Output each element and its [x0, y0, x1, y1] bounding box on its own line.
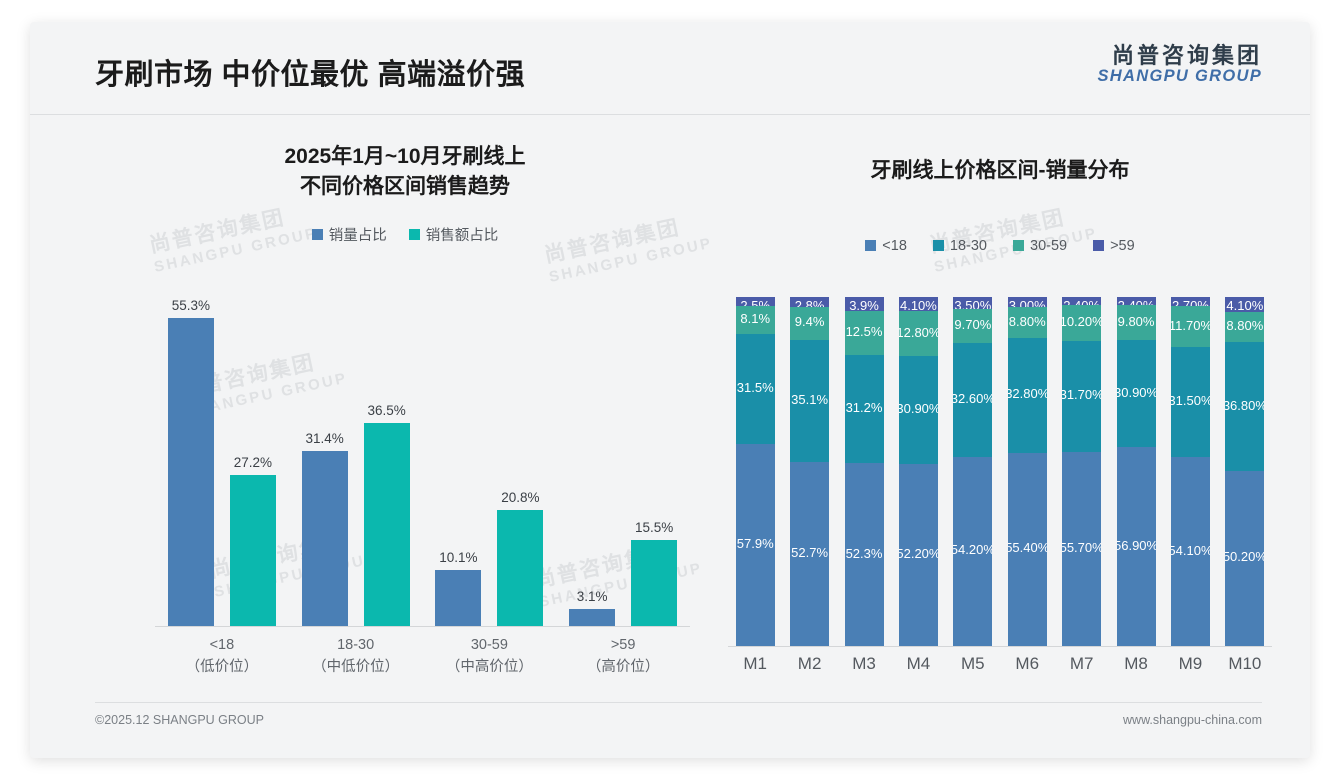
stack-segment-label: 30.90%	[1117, 385, 1156, 400]
bar-group->59: 3.1%15.5%	[556, 292, 690, 626]
x-axis-label-M7: M7	[1054, 654, 1108, 674]
legend-item-销量占比[interactable]: 销量占比	[312, 224, 387, 245]
stack-segment-label: 9.80%	[1118, 314, 1155, 329]
stack-segment-30-59-M10[interactable]: 8.80%	[1225, 312, 1264, 343]
stack-slot-M4: 4.10%12.80%30.90%52.20%	[891, 297, 945, 646]
stacked-bar-M1[interactable]: 2.5%8.1%31.5%57.9%	[736, 297, 775, 646]
stack-segment-label: 12.80%	[899, 325, 938, 340]
left-chart-panel: 2025年1月~10月牙刷线上 不同价格区间销售趋势 销量占比销售额占比 55.…	[100, 142, 710, 702]
stack-segment-<18-M5[interactable]: 54.20%	[953, 457, 992, 646]
stack-segment->59-M1[interactable]: 2.5%	[736, 297, 775, 306]
bar-value-label: 3.1%	[577, 589, 608, 604]
bar-value-label: 31.4%	[305, 431, 343, 446]
right-chart-legend: <1818-3030-59>59	[720, 238, 1280, 254]
left-chart-x-axis-labels: <18（低价位）18-30（中低价位）30-59（中高价位）>59（高价位）	[155, 634, 690, 679]
legend-label: 18-30	[950, 238, 987, 254]
stack-segment-label: 8.80%	[1009, 314, 1046, 329]
stack-segment-label: 11.70%	[1171, 318, 1210, 333]
slide-footer: ©2025.12 SHANGPU GROUP www.shangpu-china…	[95, 702, 1262, 732]
stack-segment-label: 31.50%	[1171, 393, 1210, 408]
legend-label: 30-59	[1030, 238, 1067, 254]
slide-header: 牙刷市场 中价位最优 高端溢价强 尚普咨询集团 SHANGPU GROUP	[30, 22, 1310, 115]
stacked-bar-M4[interactable]: 4.10%12.80%30.90%52.20%	[899, 297, 938, 646]
legend-swatch-icon	[312, 229, 323, 240]
left-chart-title-line1: 2025年1月~10月牙刷线上	[100, 142, 710, 172]
stacked-bar-M2[interactable]: 2.8%9.4%35.1%52.7%	[790, 297, 829, 646]
bar-rect	[302, 451, 348, 626]
stack-segment-label: 55.40%	[1008, 540, 1047, 555]
stack-slot-M5: 3.50%9.70%32.60%54.20%	[946, 297, 1000, 646]
bar-rect	[435, 570, 481, 626]
stack-segment-label: 52.20%	[899, 546, 938, 561]
stack-segment->59-M7[interactable]: 2.40%	[1062, 297, 1101, 305]
stack-segment-<18-M9[interactable]: 54.10%	[1171, 457, 1210, 646]
legend-label: <18	[882, 238, 907, 254]
bar-value-label: 20.8%	[501, 490, 539, 505]
bar-销售额占比-30-59[interactable]: 20.8%	[497, 292, 543, 626]
left-chart-title: 2025年1月~10月牙刷线上 不同价格区间销售趋势	[100, 142, 710, 202]
right-chart-plot-area: 2.5%8.1%31.5%57.9%2.8%9.4%35.1%52.7%3.9%…	[728, 297, 1272, 647]
right-chart-panel: 牙刷线上价格区间-销量分布 <1818-3030-59>59 2.5%8.1%3…	[720, 142, 1280, 702]
x-axis-label-main: 30-59	[471, 637, 508, 653]
stack-segment-18-30-M6[interactable]: 32.80%	[1008, 338, 1047, 452]
stack-segment-label: 54.10%	[1171, 543, 1210, 558]
footer-copyright: ©2025.12 SHANGPU GROUP	[95, 713, 264, 727]
bar-销售额占比->59[interactable]: 15.5%	[631, 292, 677, 626]
legend-swatch-icon	[933, 240, 944, 251]
left-chart-bar-groups: 55.3%27.2%31.4%36.5%10.1%20.8%3.1%15.5%	[155, 292, 690, 626]
stack-segment-<18-M6[interactable]: 55.40%	[1008, 453, 1047, 646]
stack-segment-<18-M2[interactable]: 52.7%	[790, 462, 829, 646]
stack-segment-label: 32.60%	[953, 391, 992, 406]
legend-swatch-icon	[1013, 240, 1024, 251]
x-axis-label-30-59: 30-59（中高价位）	[423, 634, 557, 679]
stack-segment-30-59-M2[interactable]: 9.4%	[790, 307, 829, 340]
stack-slot-M2: 2.8%9.4%35.1%52.7%	[782, 297, 836, 646]
stack-slot-M9: 2.70%11.70%31.50%54.10%	[1163, 297, 1217, 646]
page-title: 牙刷市场 中价位最优 高端溢价强	[95, 51, 525, 93]
legend-label: 销售额占比	[426, 224, 499, 245]
bar-销量占比-18-30[interactable]: 31.4%	[302, 292, 348, 626]
stack-segment-18-30-M3[interactable]: 31.2%	[845, 355, 884, 464]
stack-segment-label: 56.90%	[1117, 538, 1156, 553]
bar-value-label: 15.5%	[635, 520, 673, 535]
bar-rect	[631, 540, 677, 626]
stack-segment->59-M4[interactable]: 4.10%	[899, 297, 938, 311]
x-axis-label-sub: （高价位）	[556, 656, 690, 678]
stack-segment-label: 2.5%	[740, 298, 770, 306]
stack-segment-label: 4.10%	[900, 298, 937, 311]
stack-slot-M3: 3.9%12.5%31.2%52.3%	[837, 297, 891, 646]
right-chart-axis-line	[728, 646, 1272, 647]
bar-rect	[569, 609, 615, 626]
stack-segment-30-59-M5[interactable]: 9.70%	[953, 309, 992, 343]
x-axis-label-M10: M10	[1218, 654, 1272, 674]
stack-segment-30-59-M8[interactable]: 9.80%	[1117, 305, 1156, 339]
stack-segment-label: 30.90%	[899, 401, 938, 416]
stack-segment-18-30-M1[interactable]: 31.5%	[736, 334, 775, 444]
stack-segment-<18-M4[interactable]: 52.20%	[899, 464, 938, 646]
stack-segment-label: 9.70%	[954, 317, 991, 332]
legend-item-<18[interactable]: <18	[865, 238, 907, 254]
stack-segment-label: 8.80%	[1226, 318, 1263, 333]
stacked-bar-M3[interactable]: 3.9%12.5%31.2%52.3%	[845, 297, 884, 646]
stacked-bar-M6[interactable]: 3.00%8.80%32.80%55.40%	[1008, 297, 1047, 646]
x-axis-label-M1: M1	[728, 654, 782, 674]
stack-segment-30-59-M3[interactable]: 12.5%	[845, 311, 884, 355]
slide-canvas: 尚普咨询集团 SHANGPU GROUP 尚普咨询集团 SHANGPU GROU…	[30, 22, 1310, 758]
left-chart-plot-area: 55.3%27.2%31.4%36.5%10.1%20.8%3.1%15.5%	[155, 292, 690, 627]
stack-segment-18-30-M2[interactable]: 35.1%	[790, 340, 829, 462]
stack-segment-label: 12.5%	[846, 324, 883, 339]
stack-segment->59-M9[interactable]: 2.70%	[1171, 297, 1210, 306]
stack-segment->59-M2[interactable]: 2.8%	[790, 297, 829, 307]
stack-segment-label: 2.40%	[1063, 298, 1100, 305]
left-chart-axis-line	[155, 626, 690, 627]
x-axis-label-M3: M3	[837, 654, 891, 674]
stack-segment-30-59-M7[interactable]: 10.20%	[1062, 305, 1101, 341]
right-chart-x-axis-labels: M1M2M3M4M5M6M7M8M9M10	[728, 654, 1272, 674]
stack-segment->59-M3[interactable]: 3.9%	[845, 297, 884, 311]
x-axis-label-M9: M9	[1163, 654, 1217, 674]
stack-segment-label: 35.1%	[791, 392, 828, 407]
x-axis-label-M2: M2	[782, 654, 836, 674]
x-axis-label-<18: <18（低价位）	[155, 634, 289, 679]
stack-segment-label: 9.4%	[795, 314, 825, 329]
bar-value-label: 10.1%	[439, 550, 477, 565]
bar-group-<18: 55.3%27.2%	[155, 292, 289, 626]
bar-销量占比-30-59[interactable]: 10.1%	[435, 292, 481, 626]
stack-segment->59-M8[interactable]: 2.40%	[1117, 297, 1156, 305]
stack-segment-30-59-M1[interactable]: 8.1%	[736, 306, 775, 334]
stack-segment-label: 31.70%	[1062, 387, 1101, 402]
x-axis-label->59: >59（高价位）	[556, 634, 690, 679]
left-chart-legend: 销量占比销售额占比	[100, 224, 710, 245]
stack-segment-label: 50.20%	[1225, 549, 1264, 564]
stack-segment-label: 36.80%	[1225, 398, 1264, 413]
stack-segment-label: 2.70%	[1172, 298, 1209, 306]
stack-segment-label: 52.7%	[791, 545, 828, 560]
x-axis-label-M4: M4	[891, 654, 945, 674]
x-axis-label-main: 18-30	[337, 637, 374, 653]
logo-english-text: SHANGPU GROUP	[1098, 68, 1263, 85]
stack-segment-label: 32.80%	[1008, 386, 1047, 401]
stack-segment->59-M10[interactable]: 4.10%	[1225, 297, 1264, 311]
x-axis-label-sub: （中低价位）	[289, 656, 423, 678]
stack-segment-30-59-M4[interactable]: 12.80%	[899, 311, 938, 356]
bar-rect	[230, 475, 276, 626]
legend-item-销售额占比[interactable]: 销售额占比	[409, 224, 499, 245]
stack-segment-label: 52.3%	[846, 546, 883, 561]
bar-group-30-59: 10.1%20.8%	[423, 292, 557, 626]
x-axis-label-M8: M8	[1109, 654, 1163, 674]
legend-item-18-30[interactable]: 18-30	[933, 238, 987, 254]
stack-slot-M10: 4.10%8.80%36.80%50.20%	[1218, 297, 1272, 646]
legend-swatch-icon	[409, 229, 420, 240]
bar-rect	[364, 423, 410, 626]
stack-segment-label: 55.70%	[1062, 540, 1101, 555]
x-axis-label-sub: （中高价位）	[423, 656, 557, 678]
footer-website: www.shangpu-china.com	[1123, 713, 1262, 727]
bar-value-label: 36.5%	[367, 403, 405, 418]
x-axis-label-main: <18	[210, 637, 235, 653]
stack-slot-M7: 2.40%10.20%31.70%55.70%	[1054, 297, 1108, 646]
stack-segment-<18-M1[interactable]: 57.9%	[736, 444, 775, 646]
bar-销售额占比-<18[interactable]: 27.2%	[230, 292, 276, 626]
stack-segment-label: 10.20%	[1062, 314, 1101, 329]
stacked-bar-M9[interactable]: 2.70%11.70%31.50%54.10%	[1171, 297, 1210, 646]
stack-segment-18-30-M4[interactable]: 30.90%	[899, 356, 938, 464]
stack-segment-30-59-M9[interactable]: 11.70%	[1171, 306, 1210, 347]
right-chart-title: 牙刷线上价格区间-销量分布	[720, 142, 1280, 186]
x-axis-label-sub: （低价位）	[155, 656, 289, 678]
stack-segment-label: 4.10%	[1226, 298, 1263, 311]
stacked-bar-M10[interactable]: 4.10%8.80%36.80%50.20%	[1225, 297, 1264, 646]
stack-slot-M6: 3.00%8.80%32.80%55.40%	[1000, 297, 1054, 646]
stack-segment-18-30-M8[interactable]: 30.90%	[1117, 340, 1156, 448]
bar-value-label: 55.3%	[172, 298, 210, 313]
stack-slot-M1: 2.5%8.1%31.5%57.9%	[728, 297, 782, 646]
stack-segment-18-30-M7[interactable]: 31.70%	[1062, 341, 1101, 452]
bar-销售额占比-18-30[interactable]: 36.5%	[364, 292, 410, 626]
stack-segment-label: 54.20%	[953, 542, 992, 557]
stack-segment-label: 3.9%	[849, 298, 879, 311]
stack-segment-18-30-M9[interactable]: 31.50%	[1171, 347, 1210, 457]
bar-group-18-30: 31.4%36.5%	[289, 292, 423, 626]
bar-rect	[497, 510, 543, 626]
stack-segment-<18-M10[interactable]: 50.20%	[1225, 471, 1264, 646]
right-chart-stacked-bars: 2.5%8.1%31.5%57.9%2.8%9.4%35.1%52.7%3.9%…	[728, 297, 1272, 646]
legend-swatch-icon	[865, 240, 876, 251]
brand-logo: 尚普咨询集团 SHANGPU GROUP	[1098, 44, 1263, 85]
bar-销量占比->59[interactable]: 3.1%	[569, 292, 615, 626]
stack-segment-label: 31.5%	[737, 380, 774, 395]
stack-segment-label: 57.9%	[737, 536, 774, 551]
legend-label: >59	[1110, 238, 1135, 254]
stacked-bar-M7[interactable]: 2.40%10.20%31.70%55.70%	[1062, 297, 1101, 646]
stack-segment-label: 8.1%	[740, 311, 770, 326]
stack-segment-label: 31.2%	[846, 400, 883, 415]
stack-segment->59-M5[interactable]: 3.50%	[953, 297, 992, 309]
stack-segment-<18-M8[interactable]: 56.90%	[1117, 447, 1156, 646]
stack-segment-<18-M7[interactable]: 55.70%	[1062, 452, 1101, 646]
legend-swatch-icon	[1093, 240, 1104, 251]
stack-segment-18-30-M10[interactable]: 36.80%	[1225, 342, 1264, 470]
x-axis-label-M6: M6	[1000, 654, 1054, 674]
legend-label: 销量占比	[329, 224, 387, 245]
stacked-bar-M8[interactable]: 2.40%9.80%30.90%56.90%	[1117, 297, 1156, 646]
stacked-bar-M5[interactable]: 3.50%9.70%32.60%54.20%	[953, 297, 992, 646]
stack-segment-18-30-M5[interactable]: 32.60%	[953, 343, 992, 457]
stack-segment-label: 3.00%	[1009, 298, 1046, 307]
logo-chinese-text: 尚普咨询集团	[1098, 44, 1263, 67]
x-axis-label-18-30: 18-30（中低价位）	[289, 634, 423, 679]
x-axis-label-M5: M5	[946, 654, 1000, 674]
legend-item-30-59[interactable]: 30-59	[1013, 238, 1067, 254]
stack-segment-label: 2.8%	[795, 298, 825, 307]
bar-销量占比-<18[interactable]: 55.3%	[168, 292, 214, 626]
legend-item->59[interactable]: >59	[1093, 238, 1135, 254]
stack-segment-30-59-M6[interactable]: 8.80%	[1008, 307, 1047, 338]
left-chart-title-line2: 不同价格区间销售趋势	[100, 172, 710, 202]
bar-value-label: 27.2%	[234, 455, 272, 470]
stack-segment-<18-M3[interactable]: 52.3%	[845, 463, 884, 646]
stack-segment->59-M6[interactable]: 3.00%	[1008, 297, 1047, 307]
x-axis-label-main: >59	[611, 637, 636, 653]
bar-rect	[168, 318, 214, 626]
stack-segment-label: 3.50%	[954, 298, 991, 309]
stack-slot-M8: 2.40%9.80%30.90%56.90%	[1109, 297, 1163, 646]
stack-segment-label: 2.40%	[1118, 298, 1155, 305]
